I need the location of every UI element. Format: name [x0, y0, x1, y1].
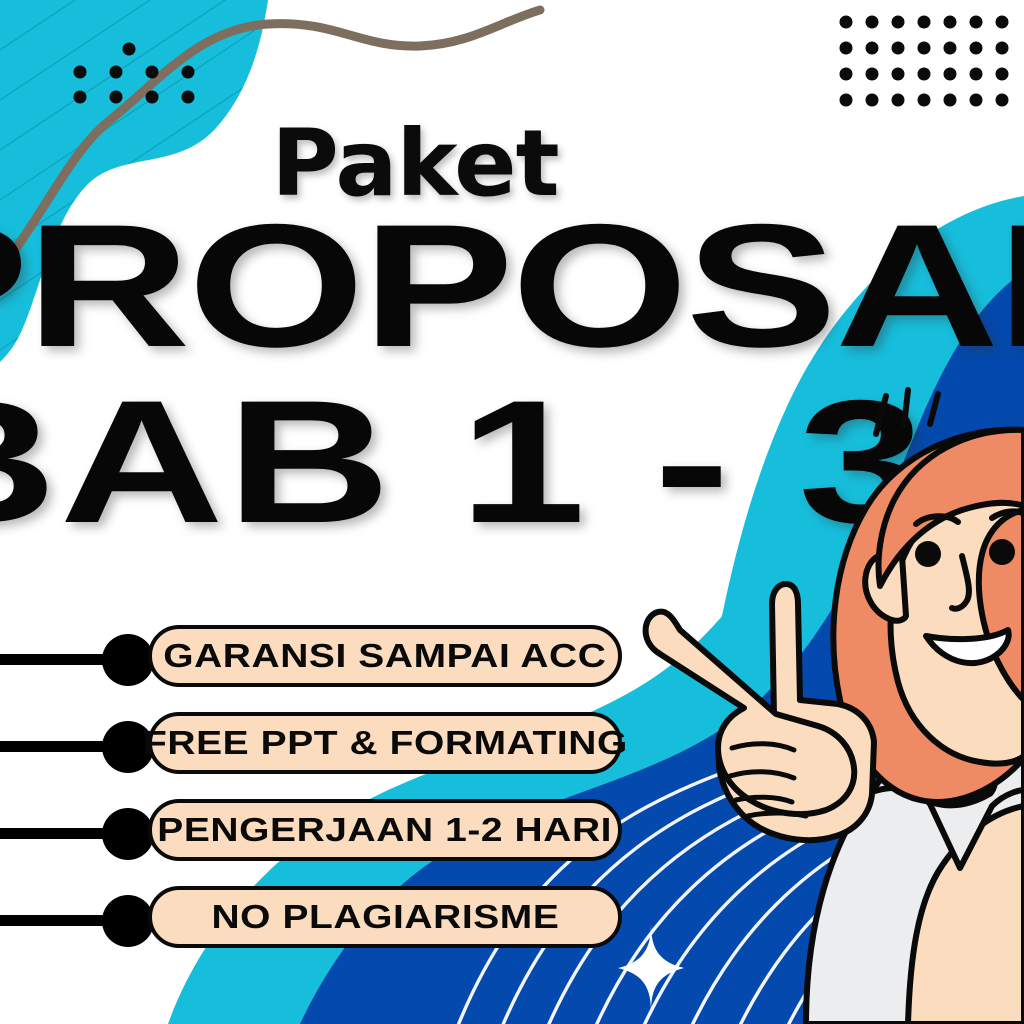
connector-line: [0, 654, 115, 665]
feature-label: FREE PPT & FORMATING: [143, 724, 628, 762]
bullet-dot-icon: [102, 895, 154, 947]
promo-poster: Paket PROPOSAL BAB 1 - 3: [0, 0, 1024, 1024]
feature-label: NO PLAGIARISME: [211, 898, 559, 936]
feature-row[interactable]: NO PLAGIARISME: [0, 873, 660, 948]
bullet-dot-icon: [102, 634, 154, 686]
feature-row[interactable]: FREE PPT & FORMATING: [0, 699, 660, 774]
eye-left: [915, 541, 941, 567]
bullet-dot-icon: [102, 808, 154, 860]
feature-pill[interactable]: NO PLAGIARISME: [148, 886, 622, 948]
feature-label: GARANSI SAMPAI ACC: [163, 637, 606, 675]
feature-pill[interactable]: GARANSI SAMPAI ACC: [148, 625, 622, 687]
feature-pill[interactable]: PENGERJAAN 1-2 HARI: [148, 799, 622, 861]
excitement-marks: [876, 390, 938, 434]
feature-row[interactable]: PENGERJAAN 1-2 HARI: [0, 786, 660, 861]
eye-right: [989, 539, 1015, 565]
feature-label: PENGERJAAN 1-2 HARI: [158, 811, 613, 849]
connector-line: [0, 915, 115, 926]
feature-pill[interactable]: FREE PPT & FORMATING: [148, 712, 622, 774]
connector-line: [0, 741, 115, 752]
feature-row[interactable]: GARANSI SAMPAI ACC: [0, 612, 660, 687]
feature-list: GARANSI SAMPAI ACC FREE PPT & FORMATING …: [0, 612, 660, 960]
connector-line: [0, 828, 115, 839]
